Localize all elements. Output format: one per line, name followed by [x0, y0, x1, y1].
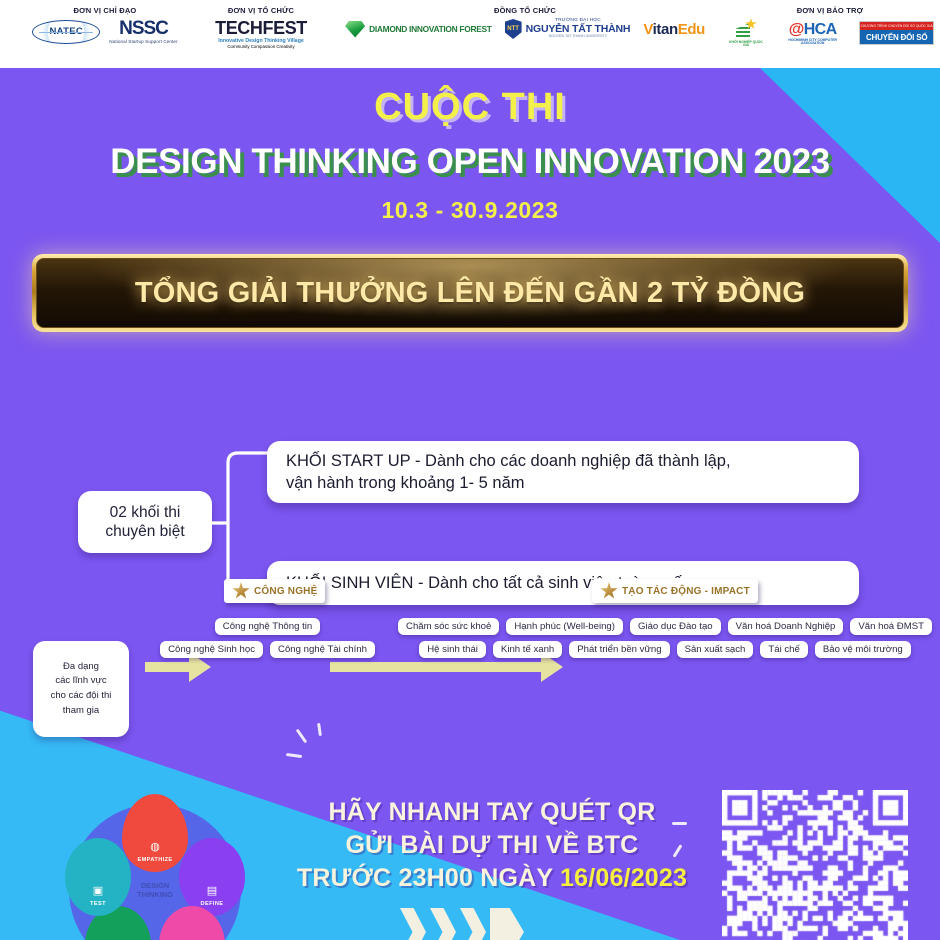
- tag-item: Văn hoá ĐMST: [850, 618, 932, 635]
- cta-block: HÃY NHANH TAY QUÉT QR GỬI BÀI DỰ THI VỀ …: [282, 796, 702, 895]
- sparkle-icon: [672, 822, 687, 825]
- badge-cong-nghe: CÔNG NGHỆ: [224, 579, 325, 603]
- badge-cong-nghe-label: CÔNG NGHỆ: [254, 586, 317, 597]
- flow-intro-line3: cho các đội thi: [51, 689, 112, 704]
- sponsor-group-to-chuc: ĐƠN VỊ TỔ CHỨC TECHFEST Innovative Desig…: [196, 6, 326, 50]
- wheel-petal-label: DEFINE: [201, 901, 224, 907]
- tag-item: Tái chế: [760, 641, 807, 658]
- sponsor-group-heading: ĐƠN VỊ BẢO TRỢ: [726, 6, 934, 15]
- badge-impact-label: TẠO TÁC ĐỘNG - IMPACT: [622, 586, 750, 597]
- tag-item: Hệ sinh thái: [419, 641, 486, 658]
- wheel-petal-empathize: ◍ EMPATHIZE: [122, 794, 188, 872]
- chevron-right-icon: [460, 908, 486, 940]
- sponsor-group-heading: ĐƠN VỊ CHỈ ĐẠO: [10, 6, 200, 15]
- tag-item: Công nghệ Tài chính: [270, 641, 375, 658]
- sparkle-icon: [296, 729, 308, 744]
- cta-line3-pre: TRƯỚC 23H00 NGÀY: [297, 864, 560, 892]
- cds-text: CHUYỂN ĐỔI SỐ: [860, 30, 933, 44]
- wheel-hub-line1: DESIGN: [141, 881, 169, 890]
- flow-intro-line4: tham gia: [51, 704, 112, 719]
- natec-logo-text: NATEC: [49, 26, 83, 37]
- hca-logo-sub: HOCHIMINH CITY COMPUTER ASSOCIATION: [777, 39, 848, 46]
- sparkle-icon: [286, 753, 302, 758]
- event-dates: 10.3 - 30.9.2023: [0, 197, 940, 224]
- sponsor-group-chi-dao: ĐƠN VỊ CHỈ ĐẠO NATEC NSSC National Start…: [10, 6, 200, 45]
- khoi-nghiep-quoc-gia-logo: KHỞI NGHIỆP QUỐC GIA: [726, 19, 766, 48]
- cta-deadline-date: 16/06/2023: [560, 864, 687, 892]
- poster-root: ĐƠN VỊ CHỈ ĐẠO NATEC NSSC National Start…: [0, 0, 940, 940]
- empathize-icon: ◍: [150, 842, 160, 853]
- chevron-right-icon: [490, 908, 524, 940]
- tag-group-technology: Công nghệ Thông tinCông nghệ Sinh họcCôn…: [160, 618, 375, 658]
- chevron-right-icon: [430, 908, 456, 940]
- sparkle-icon: [317, 723, 322, 736]
- tag-item: Kinh tế xanh: [493, 641, 562, 658]
- chevron-right-group-icon: [400, 908, 524, 940]
- block-startup: KHỐI START UP - Dành cho các doanh nghiệ…: [267, 441, 859, 503]
- cds-top-text: CHƯƠNG TRÌNH CHUYỂN ĐỔI SỐ QUỐC GIA: [860, 22, 933, 30]
- tag-item: Công nghệ Thông tin: [215, 618, 320, 635]
- wheel-hub-line2: THINKING: [137, 890, 173, 899]
- nssc-logo: NSSC National Startup Support Center: [109, 19, 177, 45]
- sponsor-group-heading: ĐỒNG TỔ CHỨC: [330, 6, 720, 15]
- test-icon: ▣: [93, 886, 103, 897]
- chuyen-doi-so-logo: CHƯƠNG TRÌNH CHUYỂN ĐỔI SỐ QUỐC GIA CHUY…: [859, 21, 934, 45]
- define-icon: ▤: [207, 886, 217, 897]
- star-icon: [600, 582, 618, 600]
- diamond-icon: [345, 21, 365, 38]
- diamond-innovation-forest-logo: DIAMOND INNOVATION FOREST: [345, 21, 491, 38]
- blocks-root-line1: 02 khối thi: [105, 503, 184, 522]
- wheel-hub-label: DESIGN THINKING: [119, 868, 191, 912]
- wheel-petal-label: TEST: [90, 901, 106, 907]
- khoi-nghiep-logo-text: KHỞI NGHIỆP QUỐC GIA: [726, 41, 766, 48]
- prize-text: TỔNG GIẢI THƯỞNG LÊN ĐẾN GẦN 2 TỶ ĐỒNG: [135, 277, 805, 310]
- star-bars-icon: [736, 19, 756, 39]
- sponsor-bar: ĐƠN VỊ CHỈ ĐẠO NATEC NSSC National Start…: [0, 0, 940, 68]
- diamond-logo-text: DIAMOND INNOVATION FOREST: [369, 24, 491, 34]
- tag-item: Phát triển bền vững: [569, 641, 669, 658]
- blocks-root-line2: chuyên biệt: [105, 522, 184, 541]
- flow-intro-box: Đa dạng các lĩnh vực cho các đội thi tha…: [33, 641, 129, 737]
- blocks-root-node: 02 khối thi chuyên biệt: [78, 491, 212, 553]
- block-student: KHỐI SINH VIÊN - Dành cho tất cả sinh vi…: [267, 561, 859, 605]
- techfest-logo-text: TECHFEST: [215, 19, 307, 37]
- tag-item: Hạnh phúc (Well-being): [506, 618, 623, 635]
- hca-logo: @HCA HOCHIMINH CITY COMPUTER ASSOCIATION: [777, 22, 848, 46]
- flow-intro-line2: các lĩnh vực: [51, 674, 112, 689]
- natec-logo: NATEC: [32, 20, 100, 44]
- cta-line2: GỬI BÀI DỰ THI VỀ BTC: [282, 829, 702, 862]
- tag-item: Văn hoá Doanh Nghiệp: [728, 618, 844, 635]
- tag-item: Công nghệ Sinh học: [160, 641, 263, 658]
- badge-impact: TẠO TÁC ĐỘNG - IMPACT: [592, 579, 758, 603]
- prize-banner: TỔNG GIẢI THƯỞNG LÊN ĐẾN GẦN 2 TỶ ĐỒNG: [32, 254, 908, 332]
- tag-item: Bảo vệ môi trường: [815, 641, 911, 658]
- ntt-line2: NGUYỄN TẤT THÀNH: [526, 24, 631, 35]
- vitanedu-logo: VitanEdu: [643, 21, 705, 38]
- cta-line3: TRƯỚC 23H00 NGÀY 16/06/2023: [282, 862, 702, 895]
- chevron-right-icon: [400, 908, 426, 940]
- nssc-logo-text: NSSC: [119, 19, 168, 38]
- star-icon: [232, 582, 250, 600]
- block-startup-line2: vận hành trong khoảng 1- 5 năm: [286, 472, 731, 494]
- eyebrow-title: CUỘC THI: [0, 86, 940, 129]
- poster-canvas: CUỘC THI DESIGN THINKING OPEN INNOVATION…: [0, 68, 940, 940]
- tag-item: Giáo dục Đào tạo: [630, 618, 721, 635]
- sponsor-group-heading: ĐƠN VỊ TỔ CHỨC: [196, 6, 326, 15]
- tag-group-impact: Chăm sóc sức khoẻHạnh phúc (Well-being)G…: [396, 618, 934, 658]
- sponsor-group-dong-to-chuc: ĐỒNG TỔ CHỨC DIAMOND INNOVATION FOREST N…: [330, 6, 720, 39]
- nssc-logo-sub: National Startup Support Center: [109, 40, 177, 45]
- flow-intro-line1: Đa dạng: [51, 660, 112, 675]
- techfest-logo: TECHFEST Innovative Design Thinking Vill…: [215, 19, 307, 50]
- block-startup-line1: KHỐI START UP - Dành cho các doanh nghiệ…: [286, 450, 731, 472]
- tag-item: Chăm sóc sức khoẻ: [398, 618, 499, 635]
- page-title: DESIGN THINKING OPEN INNOVATION 2023: [0, 142, 940, 182]
- wheel-petal-label: EMPATHIZE: [137, 857, 172, 863]
- cta-line1: HÃY NHANH TAY QUÉT QR: [282, 796, 702, 829]
- tag-item: Sản xuất sạch: [677, 641, 754, 658]
- ntt-line3: NGUYEN TAT THANH UNIVERSITY: [526, 35, 631, 39]
- shield-icon: NTT: [505, 19, 522, 39]
- sponsor-group-bao-tro: ĐƠN VỊ BẢO TRỢ KHỞI NGHIỆP QUỐC GIA @HCA…: [726, 6, 934, 48]
- qr-code[interactable]: [722, 790, 908, 940]
- nguyen-tat-thanh-university-logo: NTT TRƯỜNG ĐẠI HỌC NGUYỄN TẤT THÀNH NGUY…: [505, 19, 631, 39]
- techfest-logo-sub2: Community Compassion Creativity: [227, 45, 294, 49]
- design-thinking-wheel: ◍ EMPATHIZE ▤ DEFINE ⚲ IDEATE ✾ PROTOTYP…: [55, 790, 255, 940]
